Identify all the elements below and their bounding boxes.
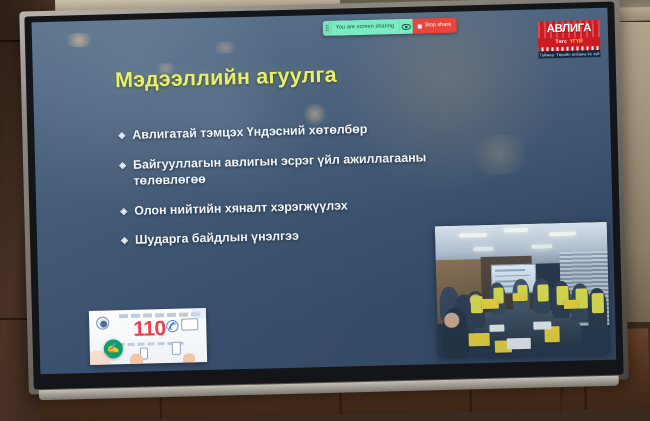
- stop-share-button[interactable]: Stop share: [413, 18, 456, 34]
- hotline-number: 110: [133, 318, 166, 340]
- laptop-illustration: [181, 318, 198, 330]
- slide-line: [495, 269, 525, 271]
- yellow-card: [564, 299, 578, 309]
- participant-head: [444, 313, 460, 328]
- paper-document: [489, 325, 505, 332]
- hand-illustration: [130, 354, 143, 365]
- logo-word: АВЛИГА: [547, 23, 592, 36]
- screen-glare: [210, 41, 240, 54]
- share-status-label: You are screen sharing: [331, 19, 400, 36]
- slide-title: Мэдээллийн агуулга: [115, 63, 337, 94]
- list-item: ◈ Авлигатай тэмцэх Үндэсний хөтөлбөр: [118, 119, 448, 144]
- diamond-bullet-icon: ◈: [120, 202, 127, 218]
- list-item-label: Шударга байдлын үнэлгээ: [135, 228, 299, 249]
- list-item: ◈ Олон нийтийн хяналт хэрэгжүүлэх: [120, 194, 450, 219]
- yellow-card: [468, 333, 489, 347]
- logo-band: АВЛИГА: [538, 20, 600, 39]
- avliga-logo: АВЛИГА Төгс ҮГҮЙ Таймер: Төрийн албаны ё…: [538, 20, 601, 59]
- list-item: ◈ Шударга байдлын үнэлгээ: [121, 224, 451, 249]
- wall-mounted-display: ⣿ You are screen sharing Stop share АВЛИ…: [19, 0, 628, 395]
- list-item-label: Олон нийтийн хяналт хэрэгжүүлэх: [134, 197, 348, 219]
- phone-handset-icon: ✆: [164, 319, 181, 338]
- hand-illustration: [183, 353, 195, 365]
- list-item: ◈ Байгууллагын авлигын эсрэг үйл ажиллаг…: [119, 148, 450, 189]
- logo-sub-left: Төгс: [555, 38, 567, 47]
- screen-share-bar[interactable]: ⣿ You are screen sharing Stop share: [322, 18, 456, 36]
- smartphone-illustration: [172, 342, 181, 355]
- ceiling-light: [459, 233, 487, 238]
- slide-bullet-list: ◈ Авлигатай тэмцэх Үндэсний хөтөлбөр ◈ Б…: [118, 119, 451, 262]
- list-item-label: Байгууллагын авлигын эсрэг үйл ажиллагаа…: [133, 148, 450, 189]
- hotline-graphic: 110 ✆ ✍: [89, 308, 207, 365]
- presentation-slide: ⣿ You are screen sharing Stop share АВЛИ…: [32, 8, 617, 374]
- paper-document: [506, 337, 530, 349]
- drag-handle-icon[interactable]: ⣿: [322, 21, 331, 36]
- diamond-bullet-icon: ◈: [119, 157, 126, 173]
- ceiling-light: [532, 244, 553, 249]
- safety-vest: [538, 284, 549, 301]
- paper-document: [534, 321, 551, 329]
- yellow-card: [481, 299, 498, 310]
- stop-square-icon: [418, 24, 422, 28]
- eye-icon[interactable]: [400, 19, 413, 34]
- stop-share-label: Stop share: [424, 18, 451, 34]
- yellow-card: [512, 293, 524, 301]
- screen-glare: [465, 134, 536, 176]
- safety-vest: [591, 293, 604, 313]
- state-emblem-icon: [96, 316, 109, 329]
- logo-sub-right: ҮГҮЙ: [570, 37, 583, 46]
- diamond-bullet-icon: ◈: [118, 127, 125, 143]
- screen-glare: [62, 33, 96, 48]
- list-item-label: Авлигатай тэмцэх Үндэсний хөтөлбөр: [132, 121, 367, 143]
- diamond-bullet-icon: ◈: [121, 232, 128, 248]
- ceiling-light: [504, 228, 528, 233]
- slide-line: [496, 275, 530, 277]
- meeting-room-photo: [435, 222, 610, 358]
- logo-caption: Таймер: Төрийн албаны ёс зүй: [538, 50, 600, 59]
